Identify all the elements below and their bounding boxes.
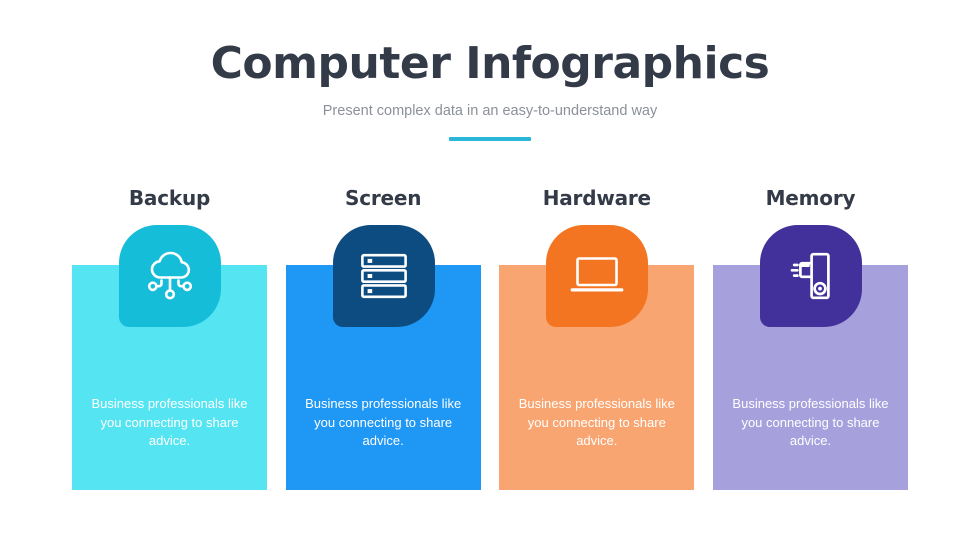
- card-heading: Screen: [286, 185, 481, 211]
- memory-device-icon: [784, 250, 838, 302]
- card-hardware[interactable]: Hardware Business professionals like you…: [499, 185, 694, 495]
- icon-tile: [760, 225, 862, 327]
- card-backup[interactable]: Backup Business professionals like you c…: [72, 185, 267, 495]
- card-screen[interactable]: Screen Business professionals like you c…: [286, 185, 481, 495]
- card-heading: Backup: [72, 185, 267, 211]
- icon-tile: [119, 225, 221, 327]
- accent-divider: [449, 137, 531, 141]
- icon-tile: [546, 225, 648, 327]
- card-heading: Memory: [713, 185, 908, 211]
- page-subtitle: Present complex data in an easy-to-under…: [0, 90, 980, 121]
- card-memory[interactable]: Memory Business professionals like you c…: [713, 185, 908, 495]
- cloud-network-icon: [142, 250, 198, 302]
- card-body: Business professionals like you connecti…: [507, 395, 686, 451]
- page-title: Computer Infographics: [0, 0, 980, 90]
- card-body: Business professionals like you connecti…: [294, 395, 473, 451]
- card-body: Business professionals like you connecti…: [80, 395, 259, 451]
- card-heading: Hardware: [499, 185, 694, 211]
- laptop-icon: [568, 254, 626, 298]
- icon-tile: [333, 225, 435, 327]
- card-body: Business professionals like you connecti…: [721, 395, 900, 451]
- header: Computer Infographics Present complex da…: [0, 0, 980, 141]
- server-stack-icon: [359, 251, 409, 301]
- cards-row: Backup Business professionals like you c…: [72, 185, 908, 495]
